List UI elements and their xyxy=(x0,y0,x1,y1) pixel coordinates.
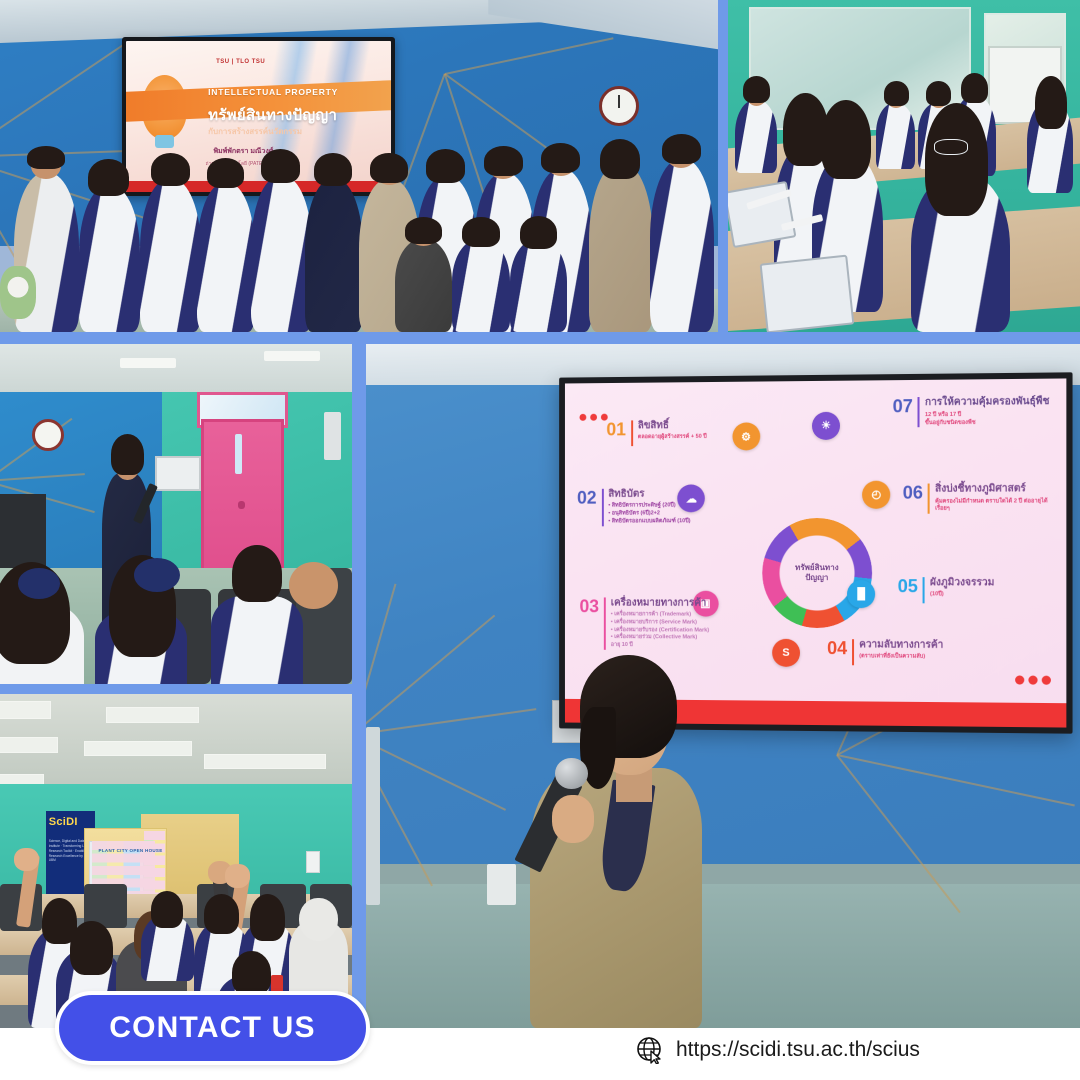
raised-hand-3 xyxy=(225,864,250,887)
presenter-hair xyxy=(111,434,144,475)
slide-logos: TSU | TLO TSU xyxy=(216,59,265,65)
slide-title-th: ทรัพย์สินทางปัญญา xyxy=(208,103,337,127)
ip-item-03: 03 เครื่องหมายทางการค้า • เครื่องหมายการ… xyxy=(580,597,710,651)
ip-center-line2: ปัญญา xyxy=(805,573,828,584)
door-window xyxy=(235,434,242,474)
student-8-hair xyxy=(232,951,271,994)
microphone-head xyxy=(555,758,588,789)
ip-item-05: 05 ผังภูมิวงจรรวม (10ปี) xyxy=(898,577,995,603)
decor-dots-left xyxy=(580,413,608,420)
ip-item-05-number: 05 xyxy=(898,577,918,595)
poster-title: PLANT CITY OPEN HOUSE xyxy=(99,848,163,853)
tablet-2 xyxy=(760,255,855,332)
eyeglasses xyxy=(934,139,968,154)
ip-item-07-sub: 12 ปี หรือ 17 ปี ขึ้นอยู่กับชนิดของพืช xyxy=(925,410,1050,427)
ip-center-label: ทรัพย์สินทาง ปัญญา xyxy=(762,518,872,628)
student-7-hood xyxy=(299,898,338,941)
student-5-hair xyxy=(204,894,239,934)
ip-item-01-title: ลิขสิทธิ์ xyxy=(638,420,669,431)
ip-item-02-number: 02 xyxy=(577,488,596,506)
contact-us-button[interactable]: CONTACT US xyxy=(55,991,370,1065)
student-6-hair xyxy=(250,894,285,941)
ip-center-line1: ทรัพย์สินทาง xyxy=(795,562,839,573)
ip-item-07: 07 การให้ความคุ้มครองพันธุ์พืช 12 ปี หรื… xyxy=(893,396,1050,428)
ip-item-05-title: ผังภูมิวงจรรวม xyxy=(930,577,994,588)
ip-item-01-sub: ตลอดอายุผู้สร้างสรรค์ + 50 ปี xyxy=(638,434,707,442)
student-4-hair xyxy=(151,891,183,928)
ip-item-06: 06 สิ่งบ่งชี้ทางภูมิศาสตร์ คุ้มครองไม่มี… xyxy=(903,483,1056,514)
photo-students-raising-hands: SciDI Science, Digital and Data Institut… xyxy=(0,694,352,1028)
hair-bow-1 xyxy=(18,568,60,599)
wall-speaker xyxy=(324,412,342,460)
ip-item-01: 01 ลิขสิทธิ์ ตลอดอายุผู้สร้างสรรค์ + 50 … xyxy=(607,419,707,445)
ip-item-02-title: สิทธิบัตร xyxy=(609,488,645,499)
slide-title-en: INTELLECTUAL PROPERTY xyxy=(208,87,338,97)
student-2-hair xyxy=(70,921,112,974)
ceiling-light-1 xyxy=(120,358,176,368)
floor xyxy=(366,884,1080,1028)
scidi-banner-title: SciDI xyxy=(49,816,78,828)
ip-item-03-title: เครื่องหมายทางการค้า xyxy=(611,597,707,608)
raised-hand-1 xyxy=(14,848,39,871)
ip-item-06-title: สิ่งบ่งชี้ทางภูมิศาสตร์ xyxy=(935,483,1026,494)
photo-group-photo: TSU | TLO TSU INTELLECTUAL PROPERTY ทรัพ… xyxy=(0,0,718,332)
ip-item-04: 04 ความลับทางการค้า (ตราบเท่าที่ยังเป็นค… xyxy=(827,639,943,666)
website-url-text[interactable]: https://scidi.tsu.ac.th/scius xyxy=(676,1038,920,1062)
ceiling-light-2 xyxy=(264,351,320,361)
student-3-hair xyxy=(232,545,281,603)
ip-item-04-number: 04 xyxy=(827,639,847,657)
hair-bow-2 xyxy=(134,558,180,592)
ip-item-03-number: 03 xyxy=(580,597,599,615)
icon-bubble-07: ☀ xyxy=(812,411,840,439)
speaker-hand xyxy=(552,795,595,843)
slide-subtitle-th: กับการสร้างสรรค์นวัตกรรม xyxy=(208,125,302,138)
decor-dots-right xyxy=(1015,676,1051,685)
student-4 xyxy=(289,562,338,610)
ip-item-01-number: 01 xyxy=(607,420,627,438)
photo-speaker-and-audience xyxy=(0,344,352,684)
website-url-row[interactable]: https://scidi.tsu.ac.th/scius xyxy=(636,1036,920,1064)
wall-rod xyxy=(366,727,380,905)
wall-switch xyxy=(306,851,320,873)
globe-cursor-icon xyxy=(636,1036,664,1064)
wall-control-panel xyxy=(155,456,201,491)
ip-item-02-sub: • สิทธิบัตรการประดิษฐ์ (20ปี) • อนุสิทธิ… xyxy=(609,502,691,525)
icon-bubble-04: S xyxy=(772,638,800,666)
ip-item-06-number: 06 xyxy=(903,483,923,501)
ip-item-07-number: 07 xyxy=(893,397,913,415)
ip-item-06-sub: คุ้มครองไม่มีกำหนด ตราบใดได้ 2 ปี ต่ออาย… xyxy=(935,498,1056,514)
student-3-scius xyxy=(211,596,303,684)
ip-item-07-title: การให้ความคุ้มครองพันธุ์พืช xyxy=(925,396,1050,408)
ip-item-02: 02 สิทธิบัตร • สิทธิบัตรการประดิษฐ์ (20ป… xyxy=(577,488,690,526)
photo-students-with-tablets xyxy=(728,0,1080,332)
ip-item-04-title: ความลับทางการค้า xyxy=(859,639,943,651)
icon-bubble-01: ⚙ xyxy=(732,422,760,450)
photo-collage: TSU | TLO TSU INTELLECTUAL PROPERTY ทรัพ… xyxy=(0,0,1080,1028)
floor-cylinder xyxy=(487,864,516,905)
flower-arrangement xyxy=(0,266,36,319)
wall-clock xyxy=(32,419,64,451)
door-handle[interactable] xyxy=(238,501,246,509)
ip-item-04-sub: (ตราบเท่าที่ยังเป็นความลับ) xyxy=(859,653,943,661)
icon-bubble-06: ◴ xyxy=(863,480,891,508)
ip-item-03-sub: • เครื่องหมายการค้า (Trademark) • เครื่อ… xyxy=(611,611,709,650)
photo-main-speaker: ทรัพย์สินทาง ปัญญา ⚙ ☀ ☁ ◴ ▣ █ S 01 xyxy=(366,344,1080,1028)
ip-item-05-sub: (10ปี) xyxy=(930,591,994,599)
podium xyxy=(0,494,46,569)
poster-canvas: TSU | TLO TSU INTELLECTUAL PROPERTY ทรัพ… xyxy=(0,0,1080,1080)
